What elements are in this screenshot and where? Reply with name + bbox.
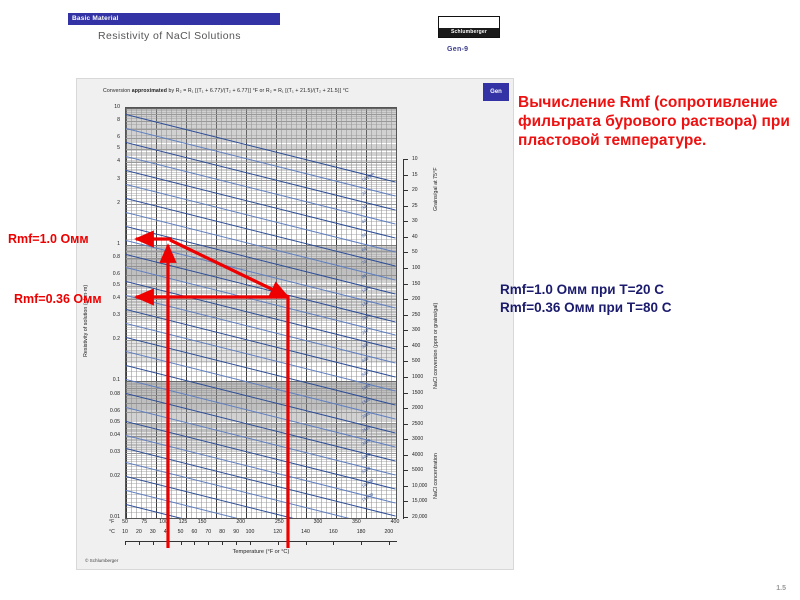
right-axis-tick-label: 20,000 <box>412 514 427 520</box>
y-axis-tick-label: 1 <box>117 241 120 247</box>
right-axis-tick-label: 15,000 <box>412 498 427 504</box>
x-axis-tick-c: 140 <box>301 529 310 535</box>
y-axis-tick-label: 0.3 <box>113 312 120 318</box>
logo-bar: Schlumberger <box>439 28 499 37</box>
x-axis-tick-c: 10 <box>122 529 128 535</box>
y-axis-tick-label: 5 <box>117 145 120 151</box>
right-axis-tick-label: 50 <box>412 249 418 255</box>
schlumberger-logo: Schlumberger <box>438 16 500 38</box>
y-axis-tick-label: 0.2 <box>113 336 120 342</box>
right-axis-tick-label: 2500 <box>412 421 423 427</box>
y-axis: Resistivity of solution (ohm·m) 10865432… <box>77 107 123 519</box>
formula-body: by R₂ = R₁ [(T₁ + 6.77)/(T₂ + 6.77)] °F … <box>167 88 349 94</box>
x-axis-tick-c: 200 <box>384 529 393 535</box>
horizontal-gridlines <box>126 108 396 518</box>
right-axis-tick-label: 10,000 <box>412 483 427 489</box>
y-axis-tick-label: 0.06 <box>110 408 120 414</box>
y-axis-tick-label: 0.04 <box>110 432 120 438</box>
right-axis-tick-label: 100 <box>412 265 420 271</box>
right-axis-title-bottom: NaCl concentration <box>433 453 439 499</box>
y-axis-tick-label: 0.6 <box>113 271 120 277</box>
right-axis-tick-label: 500 <box>412 358 420 364</box>
x-axis-tick-f: 150 <box>198 519 207 525</box>
x-axis-unit-c: °C <box>109 529 115 535</box>
nomograph-chart: Gen Conversion approximated by R₂ = R₁ [… <box>76 78 514 570</box>
right-axis: Grains/gal at 75°F NaCl conversion (ppm … <box>399 107 439 519</box>
x-axis-tick-c: 80 <box>219 529 225 535</box>
right-axis-tick-label: 40 <box>412 234 418 240</box>
right-axis-tick-label: 250 <box>412 312 420 318</box>
y-axis-tick-label: 2 <box>117 200 120 206</box>
x-axis: °F 5075100125150200250300350400 °C 10203… <box>125 519 397 565</box>
x-axis-tick-c: 100 <box>246 529 255 535</box>
y-axis-tick-label: 3 <box>117 176 120 182</box>
x-axis-tick-c: 120 <box>273 529 282 535</box>
right-axis-scale <box>403 159 404 519</box>
right-axis-tick-label: 2000 <box>412 405 423 411</box>
header-bar: Basic Material <box>68 13 280 25</box>
note-results: Rmf=1.0 Омм при Т=20 С Rmf=0.36 Омм при … <box>500 281 790 317</box>
x-axis-tick-c: 180 <box>357 529 366 535</box>
y-axis-title: Resistivity of solution (ohm·m) <box>83 285 89 357</box>
plot-area: 10 ppm2030405060708010015020025030040050… <box>125 107 397 519</box>
x-axis-tick-c: 70 <box>205 529 211 535</box>
y-axis-tick-label: 6 <box>117 134 120 140</box>
x-axis-tick-f: 75 <box>141 519 147 525</box>
header-bar-title: Basic Material <box>68 13 280 25</box>
right-axis-tick-label: 150 <box>412 281 420 287</box>
x-axis-tick-c: 40 <box>164 529 170 535</box>
x-axis-tick-c: 20 <box>136 529 142 535</box>
x-axis-tick-f: 125 <box>179 519 188 525</box>
x-axis-tick-c: 90 <box>233 529 239 535</box>
gen-badge-label: Gen <box>483 83 509 101</box>
formula-emphasis: approximated <box>132 88 167 94</box>
formula-prefix: Conversion <box>103 88 132 94</box>
right-axis-tick-label: 1500 <box>412 390 423 396</box>
right-axis-tick-label: 15 <box>412 172 418 178</box>
y-axis-tick-label: 4 <box>117 158 120 164</box>
logo-brand-text: Schlumberger <box>439 28 499 37</box>
x-axis-tick-f: 250 <box>275 519 284 525</box>
x-axis-tick-c: 60 <box>192 529 198 535</box>
y-axis-tick-label: 0.8 <box>113 254 120 260</box>
right-axis-tick-label: 20 <box>412 187 418 193</box>
right-axis-tick-label: 4000 <box>412 452 423 458</box>
logo-chart-code: Gen-9 <box>447 46 468 53</box>
y-axis-tick-label: 0.05 <box>110 419 120 425</box>
y-axis-tick-label: 0.5 <box>113 282 120 288</box>
result-line-2: Rmf=0.36 Омм при Т=80 С <box>500 299 790 317</box>
chart-credit: © Schlumberger <box>85 558 118 563</box>
right-axis-tick-label: 5000 <box>412 467 423 473</box>
right-axis-title-top: Grains/gal at 75°F <box>433 167 439 211</box>
y-axis-tick-label: 0.1 <box>113 377 120 383</box>
x-axis-tick-f: 350 <box>352 519 361 525</box>
right-axis-tick-label: 3000 <box>412 436 423 442</box>
right-axis-title-mid: NaCl conversion (ppm or grains/gal) <box>433 303 439 389</box>
right-axis-tick-label: 30 <box>412 218 418 224</box>
y-axis-tick-label: 8 <box>117 117 120 123</box>
x-axis-tick-c: 50 <box>178 529 184 535</box>
conversion-formula: Conversion approximated by R₂ = R₁ [(T₁ … <box>103 88 443 94</box>
x-axis-tick-f: 50 <box>122 519 128 525</box>
x-axis-tick-c: 160 <box>329 529 338 535</box>
x-axis-tick-f: 200 <box>236 519 245 525</box>
result-line-1: Rmf=1.0 Омм при Т=20 С <box>500 281 790 299</box>
x-axis-row-fahrenheit: °F 5075100125150200250300350400 <box>125 519 397 529</box>
y-axis-tick-label: 0.08 <box>110 391 120 397</box>
y-axis-tick-label: 0.02 <box>110 473 120 479</box>
right-axis-tick-label: 400 <box>412 343 420 349</box>
gen-badge: Gen <box>483 83 509 101</box>
x-axis-title: Temperature (°F or °C) <box>125 549 397 555</box>
y-axis-tick-label: 10 <box>114 104 120 110</box>
right-axis-tick-label: 200 <box>412 296 420 302</box>
x-axis-tick-c: 30 <box>150 529 156 535</box>
right-axis-tick-label: 1000 <box>412 374 423 380</box>
note-russian-description: Вычисление Rmf (сопротивление фильтрата … <box>518 93 793 150</box>
x-axis-tick-f: 400 <box>391 519 400 525</box>
slide-root: Basic Material Resistivity of NaCl Solut… <box>0 0 800 600</box>
right-axis-tick-label: 25 <box>412 203 418 209</box>
page-number: 1.5 <box>776 585 786 592</box>
y-axis-tick-label: 0.03 <box>110 449 120 455</box>
x-axis-unit-f: °F <box>109 519 114 525</box>
y-axis-tick-label: 0.4 <box>113 295 120 301</box>
right-axis-tick-label: 10 <box>412 156 418 162</box>
x-axis-row-celsius: °C 102030405060708090100120140160180200 <box>125 529 397 539</box>
x-axis-tick-f: 300 <box>314 519 323 525</box>
x-axis-tick-f: 100 <box>159 519 168 525</box>
slide-subtitle: Resistivity of NaCl Solutions <box>98 30 241 42</box>
right-axis-tick-label: 300 <box>412 327 420 333</box>
